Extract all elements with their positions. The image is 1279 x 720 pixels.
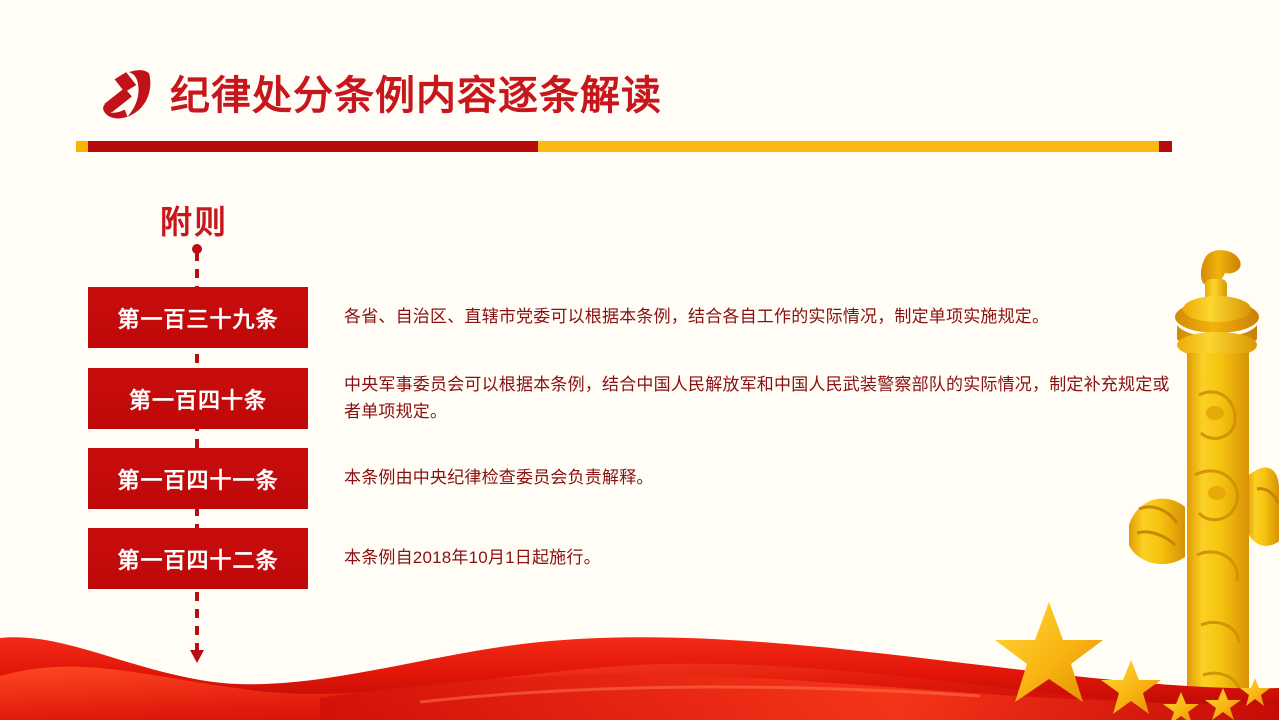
article-label-box[interactable]: 第一百四十条 [88,368,308,429]
divider-segment-yellow-left [76,141,88,152]
article-body-text: 中央军事委员会可以根据本条例，结合中国人民解放军和中国人民武装警察部队的实际情况… [344,371,1174,425]
slide-header: 纪律处分条例内容逐条解读 [0,0,1279,170]
header-divider-bar [76,141,1172,152]
divider-segment-yellow-main [538,141,1159,152]
article-body-text: 本条例由中央纪律检查委员会负责解释。 [344,464,1174,491]
section-heading: 附则 [160,197,228,243]
article-label-box[interactable]: 第一百四十二条 [88,528,308,589]
article-body-text: 本条例自2018年10月1日起施行。 [344,544,1174,571]
five-gold-stars-icon [979,590,1279,720]
page-title: 纪律处分条例内容逐条解读 [170,68,662,124]
cpc-hammer-sickle-emblem-icon [93,62,165,134]
slide-canvas: 纪律处分条例内容逐条解读 附则 第一百三十九条 各省、自治区、直辖市党委可以根据… [0,0,1279,720]
divider-segment-red-main [88,141,538,152]
article-label-box[interactable]: 第一百三十九条 [88,287,308,348]
article-body-text: 各省、自治区、直辖市党委可以根据本条例，结合各自工作的实际情况，制定单项实施规定… [344,303,1174,330]
divider-segment-red-right [1159,141,1172,152]
article-label-box[interactable]: 第一百四十一条 [88,448,308,509]
